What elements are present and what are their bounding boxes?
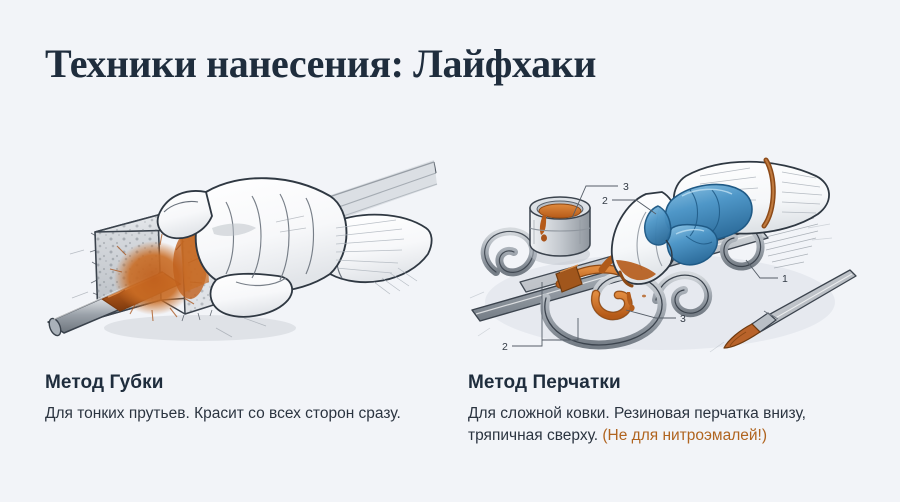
caption-sponge: Метод Губки Для тонких прутьев. Красит с… xyxy=(45,372,445,425)
callout-label-3-can: 3 xyxy=(623,181,629,193)
callout-label-1-bar: 1 xyxy=(782,273,788,285)
column-glove: 3 2 1 3 2 xyxy=(460,132,870,357)
glove-method-svg: 3 2 1 3 2 xyxy=(460,132,870,357)
caption-warning-glove: (Не для нитроэмалей!) xyxy=(602,427,767,444)
caption-body-sponge: Для тонких прутьев. Красит со всех сторо… xyxy=(45,403,445,425)
slide-root: Техники нанесения: Лайфхаки xyxy=(0,0,900,502)
paint-can xyxy=(530,197,590,265)
page-title: Техники нанесения: Лайфхаки xyxy=(45,40,596,87)
sponge-method-illustration xyxy=(30,132,440,357)
column-sponge xyxy=(30,132,440,357)
callout-label-2-scrolls: 2 xyxy=(502,341,508,353)
sponge-method-svg xyxy=(30,132,440,357)
callout-label-3-scroll: 3 xyxy=(680,313,686,325)
caption-heading-sponge: Метод Губки xyxy=(45,372,445,394)
callout-label-2-glove: 2 xyxy=(602,195,608,207)
caption-heading-glove: Метод Перчатки xyxy=(468,372,868,394)
caption-body-text-sponge: Для тонких прутьев. Красит со всех сторо… xyxy=(45,405,401,422)
caption-glove: Метод Перчатки Для сложной ковки. Резино… xyxy=(468,372,868,448)
glove-method-illustration: 3 2 1 3 2 xyxy=(460,132,870,357)
caption-body-glove: Для сложной ковки. Резиновая перчатка вн… xyxy=(468,403,868,448)
